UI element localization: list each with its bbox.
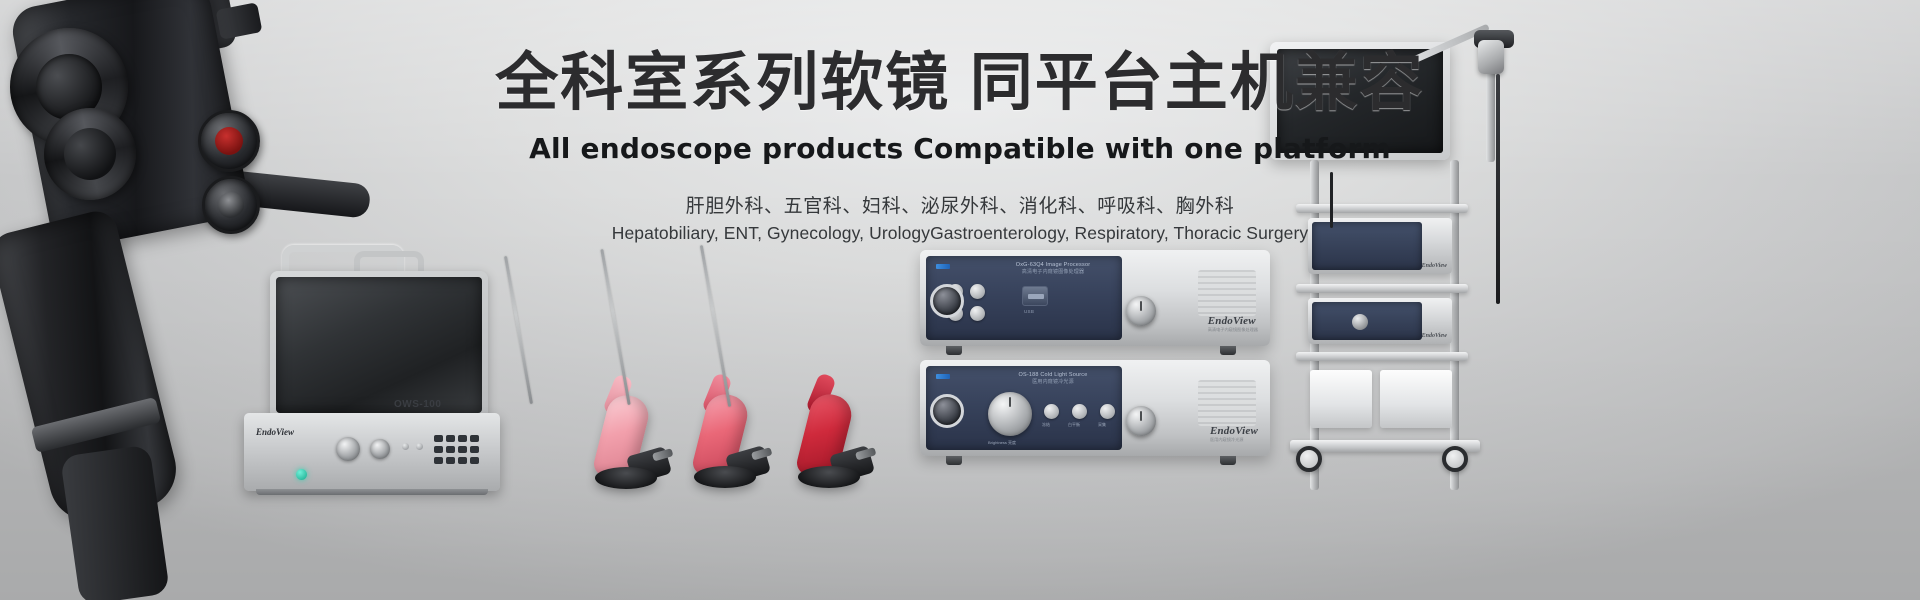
workstation-keypad-row-2 [434,446,479,453]
light-button-label-3: 采集 [1098,422,1106,428]
light-button-label-2: 白平衡 [1068,422,1080,428]
light-button-1 [1044,404,1059,419]
processor-foot-right [1220,346,1236,355]
light-source-brand-sub: 医用内窥镜冷光源 [1210,437,1258,444]
processor-button-2 [970,284,985,299]
light-source-brand: EndoView [1210,425,1258,437]
workstation-port-1 [402,443,409,450]
workstation-port-2 [416,443,423,450]
departments-chinese: 肝胆外科、五官科、妇科、泌尿外科、消化科、呼吸科、胸外科 [0,191,1920,218]
image-processor: OxG-63Q4 Image Processor 高清电子内窥镜图像处理器 US… [920,250,1270,346]
processor-label-cn: 高清电子内窥镜图像处理器 [988,269,1118,277]
cart-light-source: EndoView [1308,298,1452,344]
cart-light-brand: EndoView [1422,333,1447,339]
page-title: 全科室系列软镜 同平台主机兼容 [0,46,1920,120]
workstation-keypad-row-1 [434,435,479,442]
subtitle-english: All endoscope products Compatible with o… [0,132,1920,165]
scope-shaft [504,256,533,404]
light-source-label-en: OS-188 Cold Light Source [1018,372,1087,378]
processor-foot-left [946,346,962,355]
cart-accessory-right [1380,370,1452,428]
cart-caster-front-right [1442,446,1468,472]
cart-shelf-3 [1296,352,1468,361]
processor-label: OxG-63Q4 Image Processor 高清电子内窥镜图像处理器 [988,261,1118,277]
cart-accessory-left [1310,370,1372,428]
cold-light-source: OS-188 Cold Light Source 医用内窥镜冷光源 冻结 白平衡… [920,360,1270,456]
light-source-label-cn: 医用内窥镜冷光源 [988,379,1118,387]
usb-label: USB [1024,309,1034,314]
suction-valve [216,2,263,39]
light-button-label-1: 冻结 [1042,422,1050,428]
scope-shaft [600,249,630,405]
scope-shaft [700,245,731,407]
cart-light-knob [1352,314,1368,330]
promo-banner: 全科室系列软镜 同平台主机兼容 All endoscope products C… [0,0,1920,600]
light-source-foot-left [946,456,962,465]
light-source-label: OS-188 Cold Light Source 医用内窥镜冷光源 [988,371,1118,387]
scope-stand [798,466,860,488]
cart-processor-brand: EndoView [1422,263,1447,269]
workstation-model-label: OWS-100 [394,399,441,410]
usb-port [1022,286,1048,306]
brand-stripe [936,374,950,379]
vent-grille [1198,380,1256,426]
brand-stripe [936,264,950,269]
processor-brand-sub: 高清电子内窥镜图像处理器 [1208,327,1258,334]
laparoscope-red [698,244,868,499]
processor-button-4 [970,306,985,321]
power-button [1126,296,1156,326]
light-button-3 [1100,404,1115,419]
processor-brand: EndoView [1208,315,1258,327]
processor-stack: OxG-63Q4 Image Processor 高清电子内窥镜图像处理器 US… [920,250,1280,470]
light-source-foot-right [1220,456,1236,465]
light-source-brand-tag: EndoView 医用内窥镜冷光源 [1210,425,1258,444]
processor-label-en: OxG-63Q4 Image Processor [1016,262,1091,268]
departments-english: Hepatobiliary, ENT, Gynecology, UrologyG… [0,223,1920,244]
brightness-label: Brightness 亮度 [988,440,1048,446]
light-guide-socket [930,394,964,428]
light-button-2 [1072,404,1087,419]
workstation-keypad-row-3 [434,457,479,464]
workstation-knob-2 [370,439,390,459]
scope-socket [930,284,964,318]
headline-block: 全科室系列软镜 同平台主机兼容 All endoscope products C… [0,46,1920,244]
vent-grille [1198,270,1256,316]
cart-shelf-2 [1296,284,1468,293]
processor-brand-tag: EndoView 高清电子内窥镜图像处理器 [1208,315,1258,334]
brightness-knob [988,392,1032,436]
light-power-button [1126,406,1156,436]
cart-caster-front-left [1296,446,1322,472]
